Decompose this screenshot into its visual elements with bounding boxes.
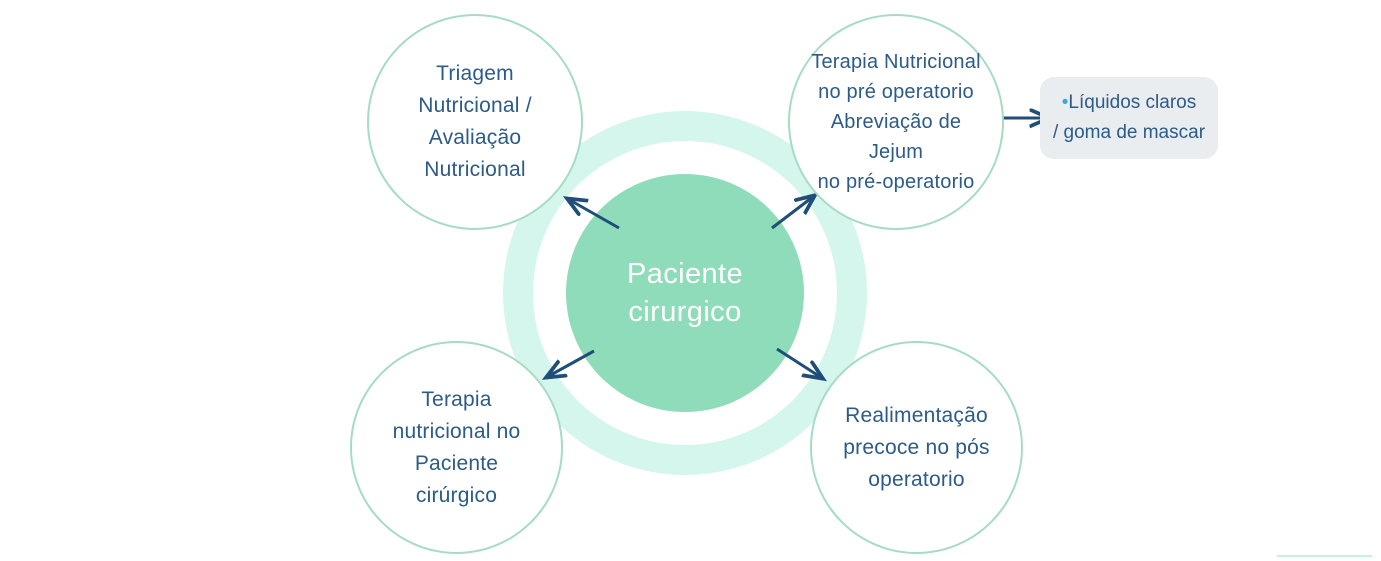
node-triagem-nutricional[interactable]: Triagem Nutricional / Avaliação Nutricio… [367,14,583,230]
node-terapia-pre-operatorio[interactable]: Terapia Nutricional no pré operatorio Ab… [788,14,1004,230]
bottom-right-divider [1277,555,1372,557]
callout-content: •Líquidos claros / goma de mascar [1053,88,1205,148]
node-terapia-nutricional-paciente-label: Terapia nutricional no Paciente cirúrgic… [381,384,533,512]
callout-label: Líquidos claros / goma de mascar [1053,92,1205,143]
node-terapia-nutricional-paciente[interactable]: Terapia nutricional no Paciente cirúrgic… [350,341,563,554]
node-triagem-nutricional-label: Triagem Nutricional / Avaliação Nutricio… [406,58,543,186]
node-terapia-pre-operatorio-label: Terapia Nutricional no pré operatorio Ab… [790,47,1002,197]
arrow-center-to-pre-operatorio [772,196,814,228]
callout-liquidos-claros[interactable]: •Líquidos claros / goma de mascar [1040,77,1218,159]
diagram-canvas: Paciente cirurgico Triagem Nutricional /… [0,0,1381,561]
node-realimentacao-precoce-label: Realimentação precoce no pós operatorio [831,400,1001,496]
node-realimentacao-precoce[interactable]: Realimentação precoce no pós operatorio [810,341,1023,554]
arrow-center-to-triagem [568,199,619,228]
arrow-center-to-terapia-nutricional [547,351,594,377]
arrow-center-to-realimentacao [777,349,822,378]
